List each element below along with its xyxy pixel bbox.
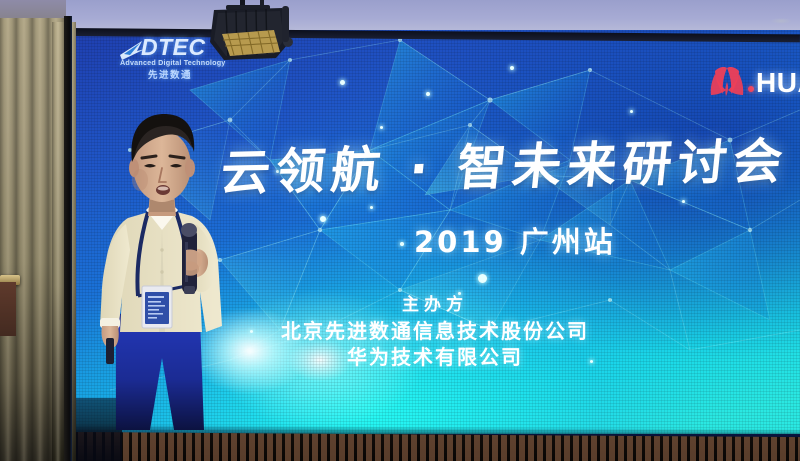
stage-spotlight-icon bbox=[196, 0, 306, 68]
huawei-wordmark: HUA bbox=[756, 67, 800, 99]
lanyard-badge bbox=[142, 286, 172, 328]
event-subtitle: 2019 广州站 bbox=[414, 219, 616, 261]
conference-stage-photo: DTEC Advanced Digital Technology 先进数通 HU… bbox=[0, 0, 800, 461]
ceiling-fixture-icon bbox=[770, 18, 792, 24]
door-panel bbox=[0, 282, 16, 336]
event-title: 云领航 · 智未来研讨会 bbox=[218, 122, 787, 205]
presenter-figure bbox=[78, 100, 258, 461]
clicker-device-icon bbox=[106, 338, 114, 364]
presenter-arm-with-microphone bbox=[181, 223, 215, 294]
huawei-flower-icon bbox=[700, 62, 754, 102]
adtec-chinese-name: 先进数通 bbox=[148, 67, 192, 81]
huawei-dot bbox=[748, 86, 754, 92]
wall-screen-edge bbox=[64, 16, 72, 461]
presenter-head bbox=[129, 114, 195, 202]
huawei-logo: HUA bbox=[700, 62, 754, 104]
